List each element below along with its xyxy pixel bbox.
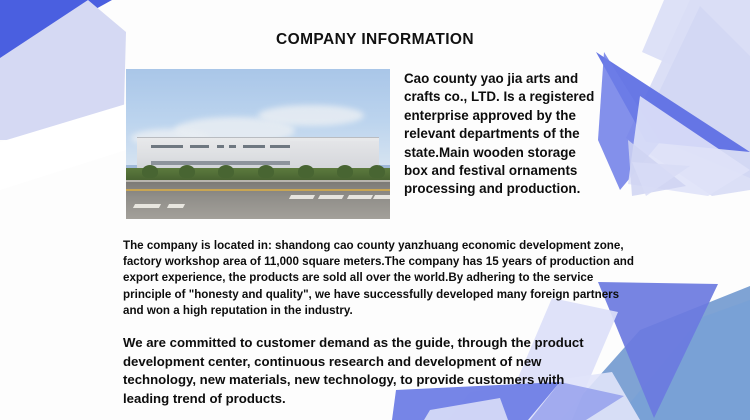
photo-road-centerline <box>126 189 390 191</box>
photo-crosswalk-stripe <box>347 195 373 199</box>
photo-bush <box>258 165 274 178</box>
photo-bush <box>218 165 234 178</box>
photo-cloud <box>258 105 364 126</box>
photo-window <box>270 145 289 148</box>
photo-window <box>217 145 224 148</box>
location-paragraph: The company is located in: shandong cao … <box>123 238 635 319</box>
photo-crosswalk-stripe <box>373 195 390 199</box>
intro-paragraph: Cao county yao jia arts and crafts co., … <box>404 70 602 199</box>
slide-canvas: COMPANY INFORMATION <box>0 0 750 420</box>
photo-bush <box>337 165 353 178</box>
photo-window <box>229 145 236 148</box>
slide-content: COMPANY INFORMATION <box>0 0 750 420</box>
photo-crosswalk-stripe <box>318 195 344 199</box>
factory-photo <box>126 69 390 219</box>
photo-bush <box>369 165 385 178</box>
photo-bush <box>298 165 314 178</box>
photo-crosswalk-stripe <box>289 195 315 199</box>
photo-road <box>126 182 390 220</box>
page-title: COMPANY INFORMATION <box>0 30 750 50</box>
photo-window <box>190 145 209 148</box>
photo-window <box>243 145 265 148</box>
photo-window <box>151 145 183 148</box>
commitment-paragraph: We are committed to customer demand as t… <box>123 334 593 408</box>
photo-crosswalk-stripe <box>133 204 162 208</box>
photo-bush <box>179 165 195 178</box>
photo-bush <box>142 165 158 178</box>
photo-crosswalk-stripe <box>167 204 185 208</box>
